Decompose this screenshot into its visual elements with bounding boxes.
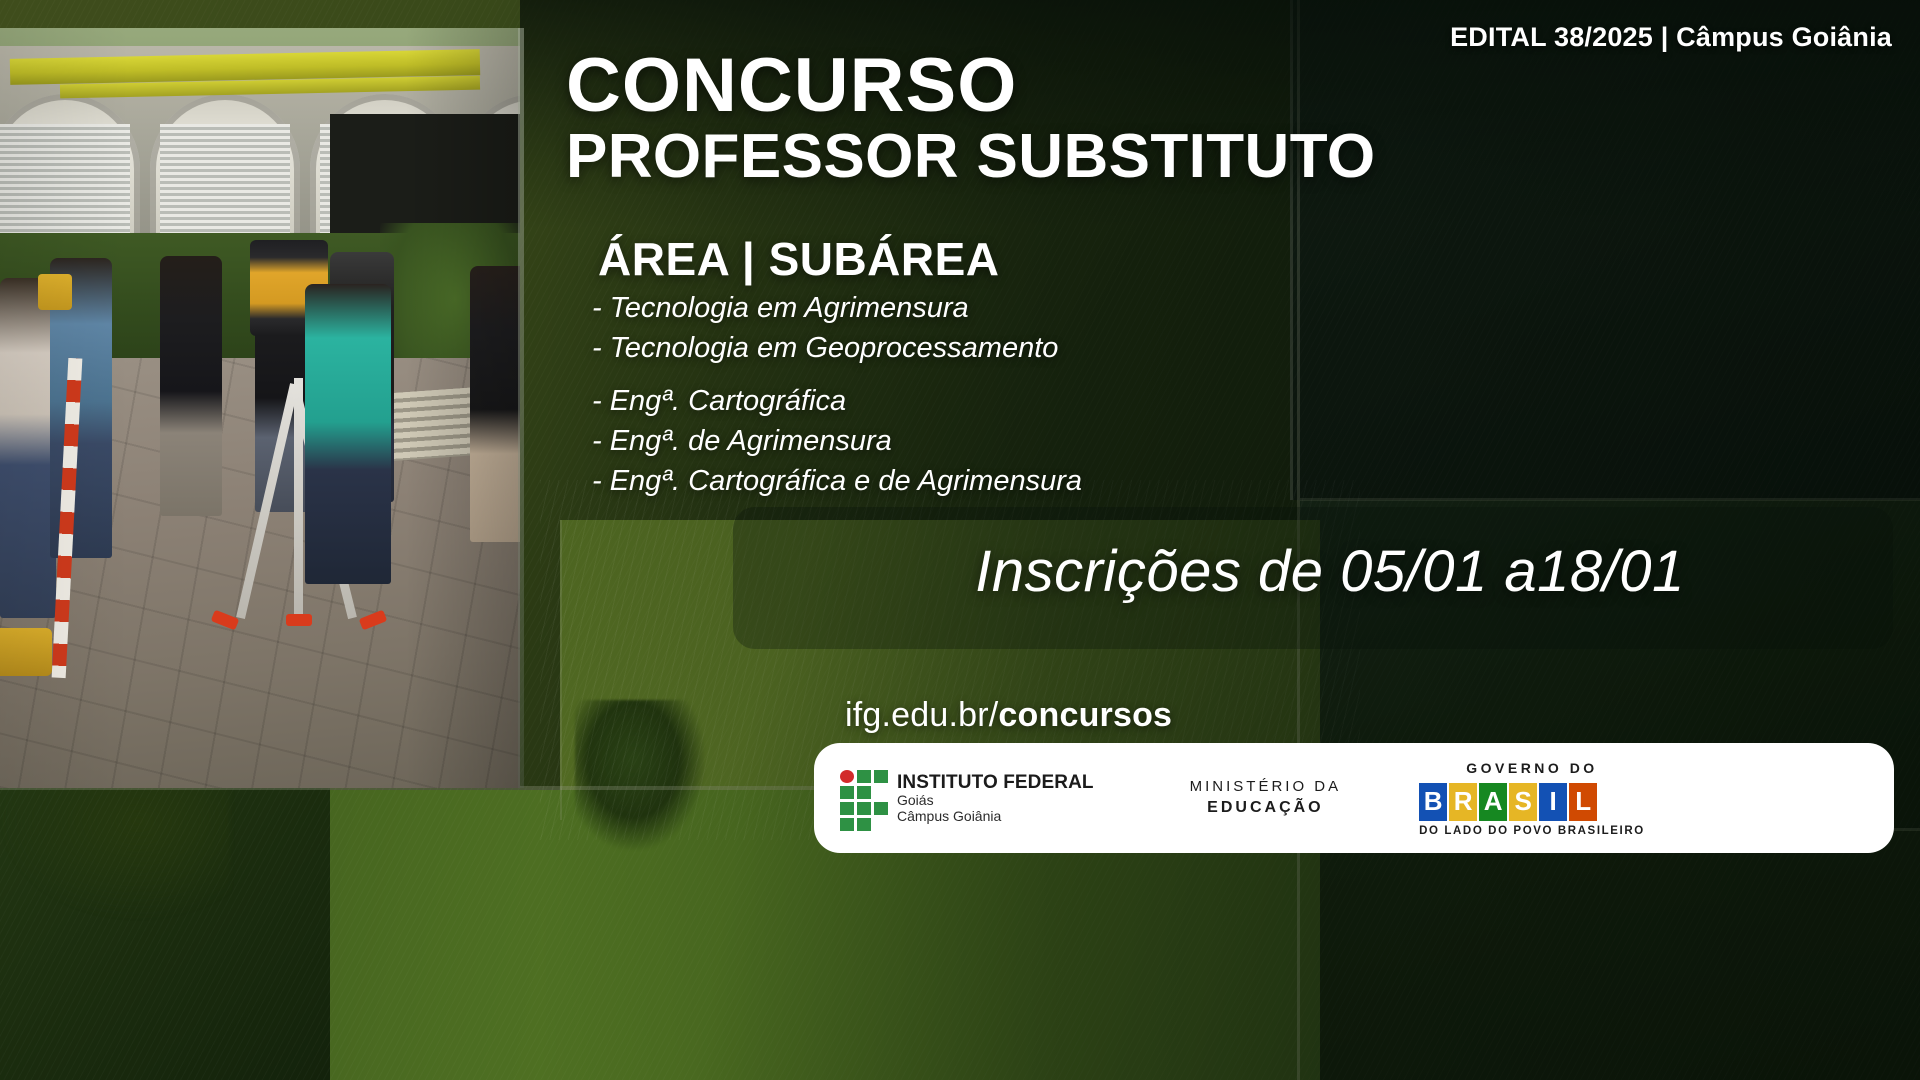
poster-banner: EDITAL 38/2025 | Câmpus Goiânia CONCURSO… [0, 0, 1920, 1080]
ifg-logo-mark-icon [840, 770, 886, 826]
logo-square [857, 770, 871, 783]
brasil-wordmark-icon: B R A S I L [1419, 779, 1645, 821]
field-low-right [1300, 830, 1920, 1080]
registration-text: Inscrições de 05/01 a18/01 [800, 538, 1860, 605]
website-url[interactable]: ifg.edu.br/concursos [845, 696, 1172, 735]
ifg-name: INSTITUTO FEDERAL [897, 772, 1094, 793]
ifg-logo-text: INSTITUTO FEDERAL Goiás Câmpus Goiânia [897, 772, 1094, 825]
gov-top-label: GOVERNO DO [1419, 760, 1645, 776]
page-title-line1: CONCURSO [566, 48, 1017, 124]
brasil-letter: A [1479, 783, 1507, 821]
list-item: - Tecnologia em Geoprocessamento [592, 328, 1082, 368]
area-heading: ÁREA | SUBÁREA [598, 232, 1000, 286]
mec-logo: MINISTÉRIO DA EDUCAÇÃO [1190, 777, 1342, 819]
logo-dot-red [840, 770, 854, 783]
logo-square [840, 802, 854, 815]
mec-line1: MINISTÉRIO DA [1190, 777, 1342, 797]
ifg-logo: INSTITUTO FEDERAL Goiás Câmpus Goiânia [840, 770, 1094, 826]
photo-students-surveying [0, 28, 520, 788]
edital-label: EDITAL 38/2025 | Câmpus Goiânia [1450, 22, 1892, 53]
logo-square [840, 786, 854, 799]
photo-edge-highlight [518, 28, 524, 788]
logo-square [857, 802, 871, 815]
road-divider [560, 520, 562, 820]
brasil-letter: I [1539, 783, 1567, 821]
brasil-letter: B [1419, 783, 1447, 821]
ifg-state: Goiás [897, 793, 1094, 809]
brasil-letter: L [1569, 783, 1597, 821]
area-list: - Tecnologia em Agrimensura - Tecnologia… [592, 288, 1082, 501]
website-domain: ifg.edu.br/ [845, 696, 998, 734]
logo-square [874, 802, 888, 815]
logo-square [857, 786, 871, 799]
logo-square [874, 770, 888, 783]
gov-tagline: DO LADO DO POVO BRASILEIRO [1419, 825, 1645, 837]
brasil-letter: S [1509, 783, 1537, 821]
photo-shadow-overlay [0, 28, 520, 788]
logo-square-empty [874, 818, 888, 831]
logo-square [857, 818, 871, 831]
ifg-campus: Câmpus Goiânia [897, 809, 1094, 825]
logo-square-empty [874, 786, 888, 799]
mec-line2: EDUCAÇÃO [1190, 797, 1342, 819]
tree-cluster-icon [575, 700, 705, 850]
governo-federal-logo: GOVERNO DO B R A S I L DO LADO DO POVO B… [1419, 760, 1645, 837]
logo-square [840, 818, 854, 831]
list-item: - Tecnologia em Agrimensura [592, 288, 1082, 328]
website-path: concursos [998, 696, 1172, 734]
page-title-line2: PROFESSOR SUBSTITUTO [566, 126, 1376, 188]
brasil-letter: R [1449, 783, 1477, 821]
road-horizontal-upper [1300, 498, 1920, 501]
field-top-right [1290, 0, 1920, 500]
list-item: - Engª. Cartográfica [592, 381, 1082, 421]
list-item: - Engª. de Agrimensura [592, 421, 1082, 461]
list-item: - Engª. Cartográfica e de Agrimensura [592, 461, 1082, 501]
footer-logo-bar: INSTITUTO FEDERAL Goiás Câmpus Goiânia M… [814, 743, 1894, 853]
